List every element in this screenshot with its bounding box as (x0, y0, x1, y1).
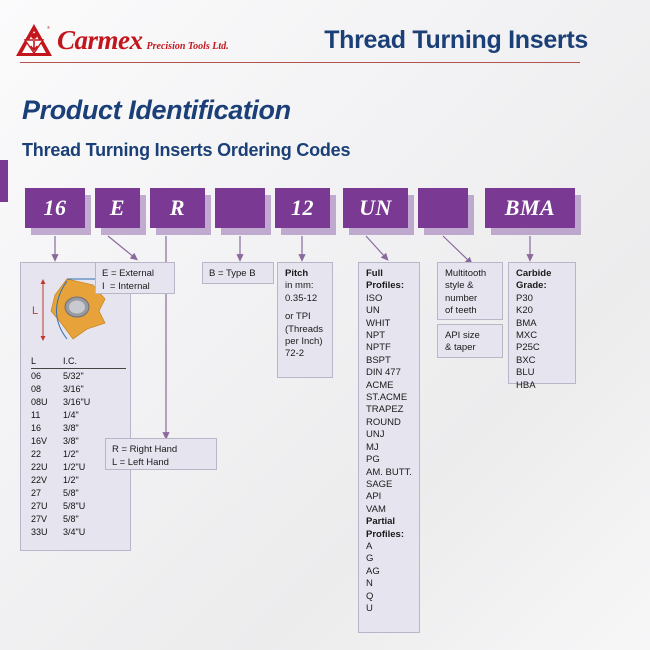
size-table-cell: 5/32" (63, 370, 119, 383)
size-table-row: 22V1/2" (31, 474, 126, 487)
size-table-cell: 08 (31, 383, 63, 396)
size-table-row: 275/8" (31, 487, 126, 500)
carbide-grade-item: BLU (516, 367, 568, 379)
multitooth-line: Multitooth (445, 268, 495, 280)
full-profile-item: VAM (366, 504, 412, 516)
size-table-cell: 27U (31, 500, 63, 513)
internal-line: I = Internal (102, 281, 168, 294)
pitch-lines: in mm:0.35-12 or TPI(Threadsper Inch)72-… (285, 280, 325, 360)
api-lines: API size& taper (445, 330, 495, 355)
svg-text:®: ® (47, 25, 50, 30)
size-table-row: 27U5/8"U (31, 500, 126, 513)
full-profile-item: ISO (366, 293, 412, 305)
multitooth-lines: Multitoothstyle &numberof teeth (445, 268, 495, 318)
size-table-cell: 22 (31, 448, 63, 461)
size-table-row: 27V5/8" (31, 513, 126, 526)
size-table-row: 08U3/16"U (31, 396, 126, 409)
size-table-cell: 11 (31, 409, 63, 422)
pitch-line: or TPI (285, 311, 325, 323)
pitch-line: (Threads (285, 324, 325, 336)
full-profile-item: ACME (366, 380, 412, 392)
brand-name: Carmex (57, 27, 143, 54)
code-box-6[interactable]: UN (343, 188, 408, 228)
type-box: B = Type B (202, 262, 274, 284)
size-table-cell: 5/8"U (63, 500, 119, 513)
full-profile-item: TRAPEZ (366, 404, 412, 416)
size-table-row: 33U3/4"U (31, 526, 126, 539)
multitooth-line: number (445, 293, 495, 305)
carmex-triangle-logo-icon: ® (14, 22, 54, 58)
size-table-cell: 5/8" (63, 513, 119, 526)
full-profile-item: API (366, 491, 412, 503)
insert-dimension-box: L I.C. LI.C.065/32"083/16"08U3/16"U111/4… (20, 262, 131, 551)
carbide-grade-item: P25C (516, 342, 568, 354)
code-box-3[interactable]: R (150, 188, 205, 228)
size-table-row: 083/16" (31, 383, 126, 396)
size-table-cell: 1/4" (63, 409, 119, 422)
partial-profile-item: A (366, 541, 412, 553)
full-profile-item: NPT (366, 330, 412, 342)
size-table-cell: 16V (31, 435, 63, 448)
code-box-2[interactable]: E (95, 188, 140, 228)
code-box-7[interactable] (418, 188, 468, 228)
full-profile-item: ROUND (366, 417, 412, 429)
external-line: E = External (102, 268, 168, 281)
full-profile-item: MJ (366, 442, 412, 454)
carbide-grade-box: Carbide Grade: P30K20BMAMXCP25CBXCBLUHBA (508, 262, 576, 384)
pitch-line: 72-2 (285, 348, 325, 360)
api-line: API size (445, 330, 495, 342)
carbide-grade-item: BMA (516, 318, 568, 330)
partial-profile-item: U (366, 603, 412, 615)
api-box: API size& taper (437, 324, 503, 358)
size-table-row: 111/4" (31, 409, 126, 422)
size-table-cell: 06 (31, 370, 63, 383)
size-table-cell: 3/16"U (63, 396, 119, 409)
full-profile-item: UN (366, 305, 412, 317)
size-table-cell: 1/2" (63, 474, 119, 487)
full-profile-item: UNJ (366, 429, 412, 441)
size-table-cell: 33U (31, 526, 63, 539)
pitch-box: Pitch in mm:0.35-12 or TPI(Threadsper In… (277, 262, 333, 378)
profiles-box: Full Profiles: ISOUNWHITNPTNPTFBSPTDIN 4… (358, 262, 420, 633)
pitch-line: 0.35-12 (285, 293, 325, 305)
size-table-cell: 22V (31, 474, 63, 487)
full-profiles-title-2: Profiles: (366, 280, 412, 292)
partial-profile-item: AG (366, 566, 412, 578)
carbide-title-1: Carbide (516, 268, 568, 280)
pitch-line: in mm: (285, 280, 325, 292)
right-hand-line: R = Right Hand (112, 444, 210, 457)
page-title: Thread Turning Inserts (324, 26, 588, 55)
code-box-5[interactable]: 12 (275, 188, 330, 228)
carbide-grade-item: MXC (516, 330, 568, 342)
left-edge-accent-tab (0, 160, 8, 202)
multitooth-line: of teeth (445, 305, 495, 317)
multitooth-line: style & (445, 280, 495, 292)
api-line: & taper (445, 342, 495, 354)
page-root: ® Carmex Precision Tools Ltd. Thread Tur… (0, 0, 650, 650)
carbide-grade-item: BXC (516, 355, 568, 367)
pitch-line: per Inch) (285, 336, 325, 348)
header-divider (20, 62, 580, 63)
multitooth-box: Multitoothstyle &numberof teeth (437, 262, 503, 320)
size-table-cell: 5/8" (63, 487, 119, 500)
code-box-4[interactable] (215, 188, 265, 228)
full-profile-item: AM. BUTT. (366, 467, 412, 479)
dimension-l-label: L (32, 305, 38, 317)
partial-profiles-title-1: Partial (366, 516, 412, 528)
external-internal-box: E = External I = Internal (95, 262, 175, 294)
partial-profiles-list: AGAGNQU (366, 541, 412, 615)
size-table-row: 163/8" (31, 422, 126, 435)
carbide-grade-item: K20 (516, 305, 568, 317)
pitch-title: Pitch (285, 268, 325, 280)
left-hand-line: L = Left Hand (112, 457, 210, 470)
full-profiles-title-1: Full (366, 268, 412, 280)
carbide-grade-item: P30 (516, 293, 568, 305)
size-table-header-cell: L (31, 355, 63, 368)
size-table-cell: 22U (31, 461, 63, 474)
section-subtitle: Thread Turning Inserts Ordering Codes (22, 140, 350, 161)
carbide-title-2: Grade: (516, 280, 568, 292)
carbide-grade-item: HBA (516, 380, 568, 392)
size-table-cell: 3/8" (63, 422, 119, 435)
code-box-1[interactable]: 16 (25, 188, 85, 228)
carmex-logo: ® Carmex Precision Tools Ltd. (14, 22, 229, 58)
size-table-cell: 16 (31, 422, 63, 435)
size-table-cell: 08U (31, 396, 63, 409)
carbide-grade-list: P30K20BMAMXCP25CBXCBLUHBA (516, 293, 568, 392)
partial-profile-item: N (366, 578, 412, 590)
partial-profile-item: G (366, 553, 412, 565)
size-table-cell: 27 (31, 487, 63, 500)
full-profile-item: ST.ACME (366, 392, 412, 404)
partial-profile-item: Q (366, 591, 412, 603)
full-profile-item: PG (366, 454, 412, 466)
full-profile-item: NPTF (366, 342, 412, 354)
section-title: Product Identification (22, 95, 291, 126)
brand-subtitle: Precision Tools Ltd. (147, 42, 229, 52)
size-table-header: LI.C. (31, 355, 126, 369)
type-b-line: B = Type B (209, 268, 267, 281)
size-table-cell: 27V (31, 513, 63, 526)
size-table-row: 065/32" (31, 370, 126, 383)
full-profile-item: DIN 477 (366, 367, 412, 379)
size-table-cell: 3/16" (63, 383, 119, 396)
full-profiles-list: ISOUNWHITNPTNPTFBSPTDIN 477ACMEST.ACMETR… (366, 293, 412, 516)
full-profile-item: BSPT (366, 355, 412, 367)
hand-direction-box: R = Right Hand L = Left Hand (105, 438, 217, 470)
full-profile-item: SAGE (366, 479, 412, 491)
full-profile-item: WHIT (366, 318, 412, 330)
size-table-cell: 3/4"U (63, 526, 119, 539)
partial-profiles-title-2: Profiles: (366, 529, 412, 541)
size-table-header-cell: I.C. (63, 355, 119, 368)
code-box-8[interactable]: BMA (485, 188, 575, 228)
